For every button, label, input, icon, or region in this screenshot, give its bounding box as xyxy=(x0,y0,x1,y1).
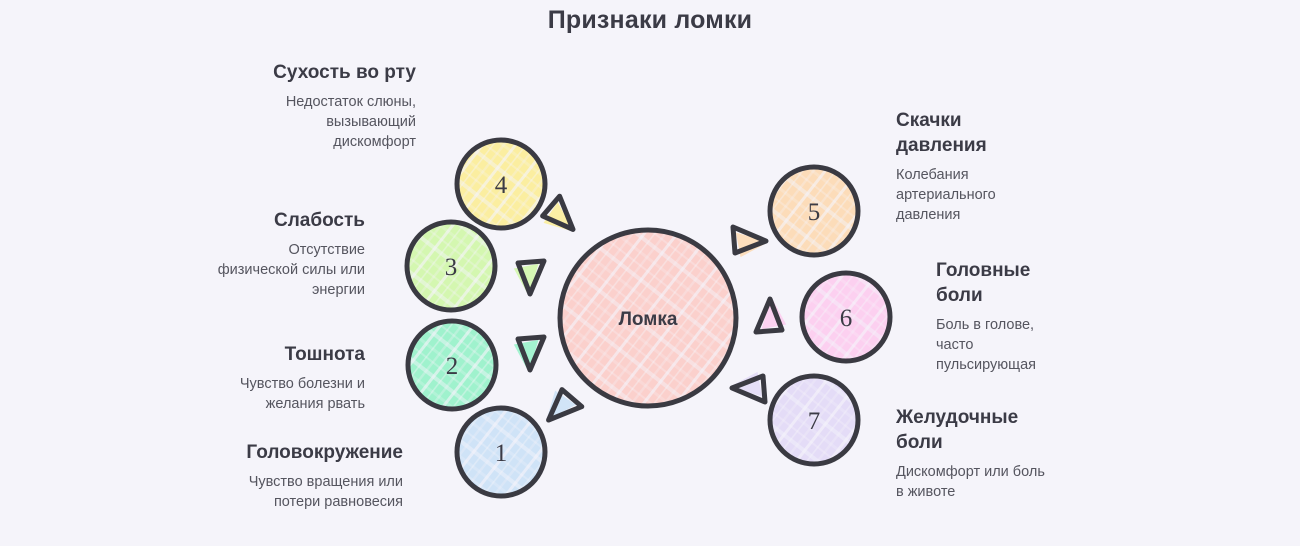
node-number-2: 2 xyxy=(446,353,459,380)
arrow-2 xyxy=(514,337,544,373)
arrow-3 xyxy=(514,261,544,297)
arrow-7 xyxy=(729,372,765,402)
label-block-nausea: ТошнотаЧувство болезни и желания рвать xyxy=(200,342,365,414)
arrow-5 xyxy=(733,227,769,257)
label-description-headache: Боль в голове, часто пульсирующая xyxy=(936,315,1056,375)
label-title-dizziness: Головокружение xyxy=(205,440,403,465)
node-circle-3[interactable]: 3 xyxy=(407,222,495,310)
arrow-6 xyxy=(756,296,786,332)
node-number-3: 3 xyxy=(445,254,458,281)
label-title-dry_mouth: Сухость во рту xyxy=(240,60,416,85)
diagram-svg: Ломка1234567 xyxy=(0,0,1300,546)
node-number-4: 4 xyxy=(495,172,508,199)
node-circle-7[interactable]: 7 xyxy=(770,376,858,464)
center-node[interactable]: Ломка xyxy=(560,230,736,406)
infographic-canvas: Признаки ломки Ломка1234567 Сухость во р… xyxy=(0,0,1300,546)
arrow-1 xyxy=(535,385,582,432)
node-circle-4[interactable]: 4 xyxy=(457,140,545,228)
node-number-6: 6 xyxy=(840,305,853,332)
label-description-pressure: Колебания артериального давления xyxy=(896,165,1036,225)
node-number-5: 5 xyxy=(808,199,821,226)
label-block-weakness: СлабостьОтсутствие физической силы или э… xyxy=(210,208,365,300)
label-description-stomach: Дискомфорт или боль в животе xyxy=(896,462,1056,502)
center-node-label: Ломка xyxy=(619,309,678,330)
node-number-7: 7 xyxy=(808,408,821,435)
label-block-headache: Головные болиБоль в голове, часто пульси… xyxy=(936,258,1056,375)
node-circle-1[interactable]: 1 xyxy=(457,408,545,496)
label-title-weakness: Слабость xyxy=(210,208,365,233)
label-description-dry_mouth: Недостаток слюны, вызывающий дискомфорт xyxy=(240,92,416,152)
label-description-weakness: Отсутствие физической силы или энергии xyxy=(210,240,365,300)
label-description-dizziness: Чувство вращения или потери равновесия xyxy=(205,472,403,512)
label-title-headache: Головные боли xyxy=(936,258,1056,308)
label-block-dry_mouth: Сухость во ртуНедостаток слюны, вызывающ… xyxy=(240,60,416,152)
label-title-stomach: Желудочные боли xyxy=(896,405,1056,455)
label-description-nausea: Чувство болезни и желания рвать xyxy=(200,374,365,414)
node-circle-2[interactable]: 2 xyxy=(408,321,496,409)
node-number-1: 1 xyxy=(495,440,508,467)
node-circle-6[interactable]: 6 xyxy=(802,273,890,361)
arrow-4 xyxy=(538,196,585,243)
label-block-pressure: Скачки давленияКолебания артериального д… xyxy=(896,108,1036,225)
label-block-stomach: Желудочные болиДискомфорт или боль в жив… xyxy=(896,405,1056,502)
label-block-dizziness: ГоловокружениеЧувство вращения или потер… xyxy=(205,440,403,512)
node-circle-5[interactable]: 5 xyxy=(770,167,858,255)
label-title-pressure: Скачки давления xyxy=(896,108,1036,158)
label-title-nausea: Тошнота xyxy=(200,342,365,367)
